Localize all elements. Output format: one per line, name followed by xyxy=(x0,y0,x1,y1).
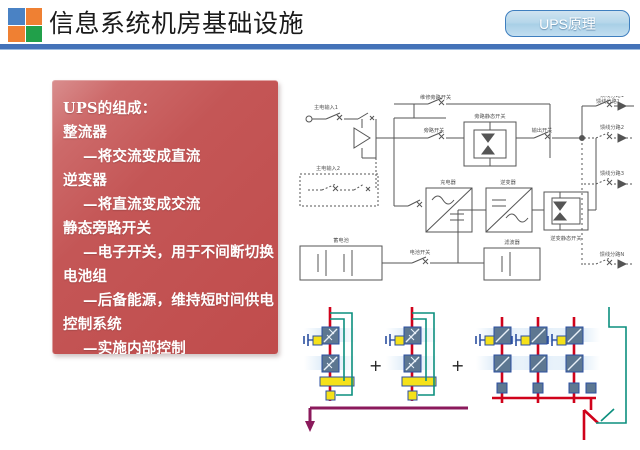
topic-badge[interactable]: UPS原理 xyxy=(505,10,630,37)
ups-line-static-bypass: 静态旁路开关 xyxy=(63,217,278,241)
page-title: 信息系统机房基础设施 xyxy=(49,5,304,43)
ups-line-inverter: 逆变器 xyxy=(63,169,278,193)
label-battery: 蓄电池 xyxy=(333,236,349,244)
label-feeder-1-text: 馈线分路1 xyxy=(596,98,620,105)
label-output-switch: 输出开关 xyxy=(532,126,553,134)
label-feeder-3: 馈线分路3 xyxy=(600,169,624,177)
label-main-input-1: 主电输入1 xyxy=(314,103,338,111)
label-feeder-2: 馈线分路2 xyxy=(600,123,624,131)
label-filter: 滤波器 xyxy=(504,238,520,246)
main-input-1-terminal xyxy=(306,116,312,122)
label-main-input-2: 主电输入2 xyxy=(316,164,340,172)
logo-tile-bottom-left xyxy=(8,26,25,43)
label-feeder-n: 馈线分路N xyxy=(600,250,625,258)
ups-line-rectifier-desc: —将交流变成直流 xyxy=(63,145,278,169)
page-header: 信息系统机房基础设施 UPS原理 xyxy=(0,0,640,50)
ups-line-static-bypass-desc: —电子开关，用于不间断切换 xyxy=(63,241,278,265)
label-maintenance-bypass-switch: 维修旁路开关 xyxy=(420,94,451,101)
ups-line-battery-desc: —后备能源，维持短时间供电 xyxy=(63,289,278,313)
ups-line-rectifier: 整流器 xyxy=(63,121,278,145)
label-bypass-static-switch: 旁路静态开关 xyxy=(474,112,505,120)
plus-sign-1: + xyxy=(369,356,382,375)
label-battery-switch: 电池开关 xyxy=(410,248,431,256)
label-charger: 充电器 xyxy=(440,178,456,186)
plus-sign-2: + xyxy=(451,356,464,375)
ups-circuit-diagram: 主电输入1 主电输入2 维修旁路开关 旁路开关 旁路静态开关 输出开关 充电器 … xyxy=(296,96,634,286)
logo-tile-top-left xyxy=(8,8,25,25)
label-inverter-static-switch: 逆变静态开关 xyxy=(550,234,581,242)
ups-module-bank xyxy=(476,307,626,440)
ups-line-battery: 电池组 xyxy=(63,265,278,289)
parallel-svg: + + xyxy=(296,305,636,447)
output-bus xyxy=(305,408,468,432)
ups-line-title: UPS的组成： xyxy=(63,97,278,121)
label-bypass-switch: 旁路开关 xyxy=(424,126,445,134)
label-inverter: 逆变器 xyxy=(500,178,516,186)
logo-tile-bottom-right xyxy=(26,26,43,43)
ups-composition-panel: UPS的组成： 整流器 —将交流变成直流 逆变器 —将直流变成交流 静态旁路开关… xyxy=(52,80,278,354)
ups-line-control: 控制系统 xyxy=(63,313,278,337)
ups-line-inverter-desc: —将直流变成交流 xyxy=(63,193,278,217)
logo-tile-top-right xyxy=(26,8,43,25)
ups-unit-a xyxy=(304,307,356,401)
ups-line-control-desc: —实施内部控制 xyxy=(63,337,278,354)
circuit-svg: 主电输入1 主电输入2 维修旁路开关 旁路开关 旁路静态开关 输出开关 充电器 … xyxy=(296,96,634,286)
header-divider-thin xyxy=(0,49,640,50)
parallel-ups-diagram: + + xyxy=(296,305,636,447)
ups-unit-b xyxy=(386,307,438,401)
app-logo xyxy=(8,8,42,42)
